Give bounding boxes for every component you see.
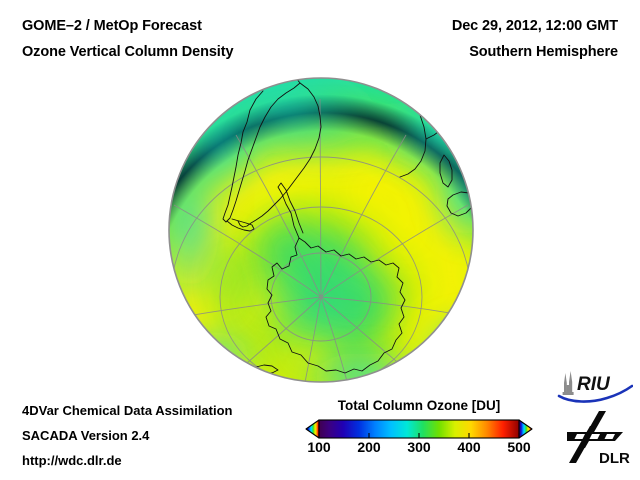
colorbar-tick-500: 500 xyxy=(507,439,530,455)
region-label: Southern Hemisphere xyxy=(469,44,618,60)
page-subtitle: Ozone Vertical Column Density xyxy=(22,44,233,60)
colorbar-title: Total Column Ozone [DU] xyxy=(305,398,533,413)
colorbar-gradient xyxy=(305,419,533,439)
footer-version-label: SACADA Version 2.4 xyxy=(22,428,149,443)
timestamp-label: Dec 29, 2012, 12:00 GMT xyxy=(452,18,618,34)
colorbar-extend-max-arrow xyxy=(519,420,532,438)
south-pole-marker xyxy=(319,295,323,299)
colorbar-tick-200: 200 xyxy=(357,439,380,455)
dlr-wordmark: DLR xyxy=(599,450,630,466)
footer-method-label: 4DVar Chemical Data Assimilation xyxy=(22,403,233,418)
colorbar-extend-min-arrow xyxy=(306,420,319,438)
colorbar: Total Column Ozone [DU] 100200300400500 xyxy=(305,398,540,470)
dlr-logo: DLR xyxy=(563,408,633,466)
ozone-map-figure: GOME–2 / MetOp Forecast Ozone Vertical C… xyxy=(0,0,640,480)
riu-logo: RIU xyxy=(557,369,633,405)
page-title: GOME–2 / MetOp Forecast xyxy=(22,18,202,34)
footer-url-link[interactable]: http://wdc.dlr.de xyxy=(22,453,122,468)
colorbar-tick-labels: 100200300400500 xyxy=(305,439,533,463)
cathedral-icon xyxy=(563,371,574,395)
orthographic-projection-svg xyxy=(168,77,474,383)
riu-wordmark: RIU xyxy=(577,374,611,395)
coastline-new-zealand xyxy=(462,318,473,335)
colorbar-tick-300: 300 xyxy=(407,439,430,455)
colorbar-tick-100: 100 xyxy=(307,439,330,455)
globe-map xyxy=(168,77,474,383)
colorbar-tick-400: 400 xyxy=(457,439,480,455)
coastline-southern-island-b xyxy=(364,378,382,383)
